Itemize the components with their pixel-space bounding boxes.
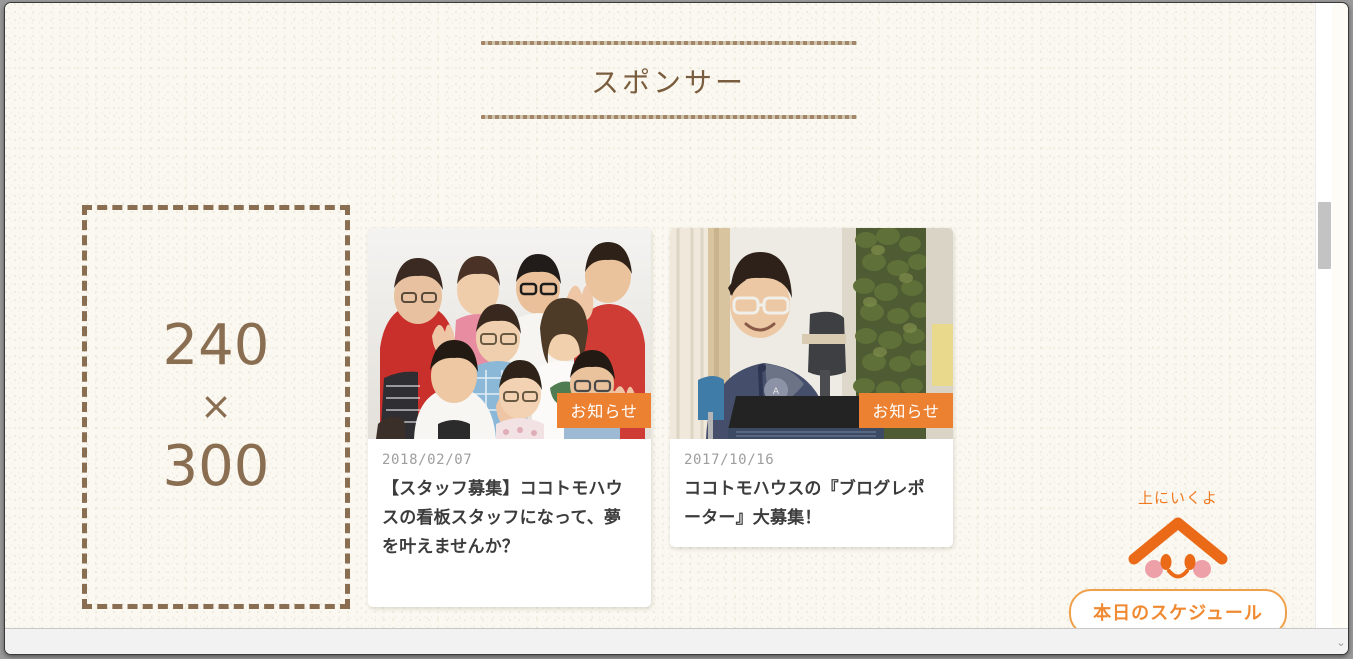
ad-times-label: × bbox=[200, 383, 232, 431]
ad-height-label: 300 bbox=[163, 431, 270, 504]
ad-width-label: 240 bbox=[163, 310, 270, 383]
card-body: 2017/10/16 ココトモハウスの『ブログレポーター』大募集！ bbox=[670, 439, 953, 547]
heading-rule-bottom bbox=[481, 115, 857, 119]
scrollbar-thumb[interactable] bbox=[1318, 202, 1331, 269]
browser-window: スポンサー 240 × 300 bbox=[4, 2, 1349, 655]
status-badge: お知らせ bbox=[557, 393, 651, 428]
status-badge: お知らせ bbox=[859, 393, 953, 428]
page-viewport: スポンサー 240 × 300 bbox=[5, 3, 1332, 630]
news-card[interactable]: お知らせ 2018/02/07 【スタッフ募集】ココトモハウスの看板スタッフにな… bbox=[368, 228, 651, 607]
scroll-to-top-label: 上にいくよ bbox=[1067, 487, 1289, 508]
news-card[interactable]: A bbox=[670, 228, 953, 547]
window-bottom-edge: ⌄ bbox=[5, 628, 1349, 654]
card-title[interactable]: ココトモハウスの『ブログレポーター』大募集！ bbox=[684, 475, 939, 533]
card-date: 2017/10/16 bbox=[684, 452, 939, 468]
schedule-button[interactable]: 本日のスケジュール bbox=[1069, 589, 1287, 630]
card-thumbnail[interactable]: A bbox=[670, 228, 953, 439]
card-body: 2018/02/07 【スタッフ募集】ココトモハウスの看板スタッフになって、夢を… bbox=[368, 439, 651, 577]
ad-placeholder[interactable]: 240 × 300 bbox=[82, 205, 350, 609]
page-title: スポンサー bbox=[5, 45, 1332, 115]
heading-rule-top bbox=[481, 41, 857, 45]
house-face-icon[interactable] bbox=[1128, 513, 1228, 579]
card-thumbnail[interactable]: お知らせ bbox=[368, 228, 651, 439]
page-scrollbar[interactable] bbox=[1315, 3, 1332, 630]
sponsor-section-header: スポンサー bbox=[5, 41, 1332, 119]
card-title[interactable]: 【スタッフ募集】ココトモハウスの看板スタッフになって、夢を叶えませんか？ bbox=[382, 475, 637, 563]
svg-text:A: A bbox=[773, 387, 780, 397]
card-date: 2018/02/07 bbox=[382, 452, 637, 468]
chevron-down-icon[interactable]: ⌄ bbox=[1334, 636, 1348, 650]
scroll-to-top-widget[interactable]: 上にいくよ 本日のスケジュール bbox=[1067, 487, 1289, 630]
